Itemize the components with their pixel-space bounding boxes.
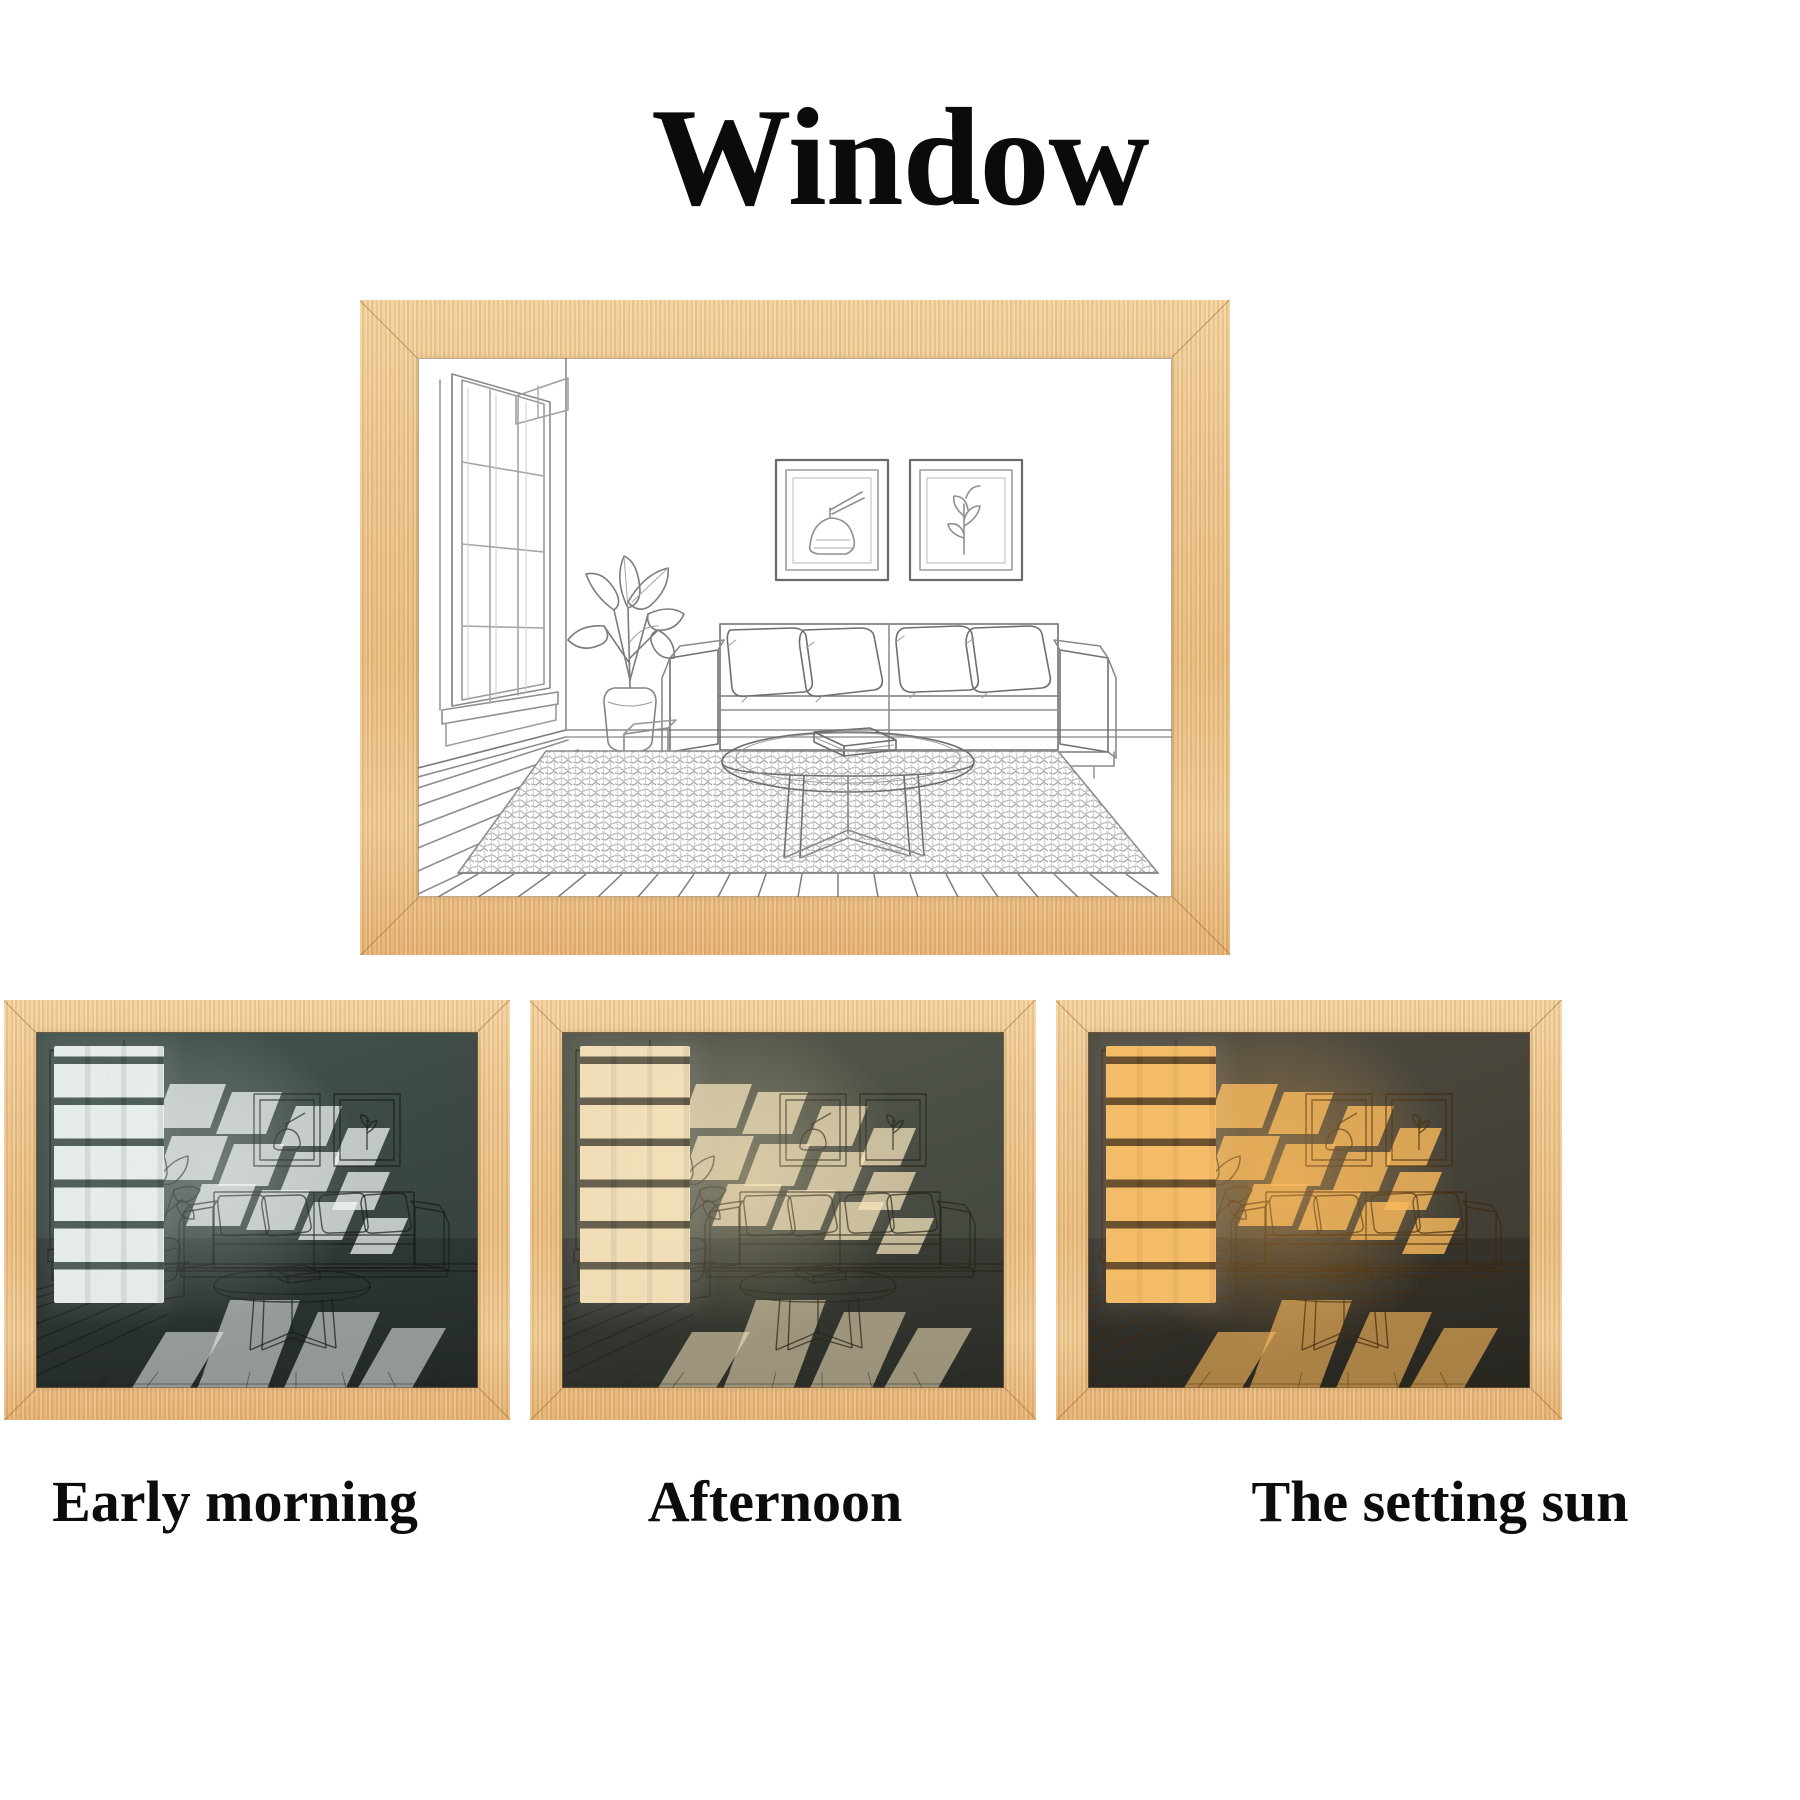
- variant-artwork-early-morning: [36, 1032, 478, 1388]
- line-art-scene: [418, 358, 1172, 897]
- caption-afternoon: Afternoon: [540, 1468, 1010, 1535]
- page-title: Window: [0, 88, 1800, 228]
- hero-artwork: [418, 358, 1172, 897]
- variant-frame-afternoon[interactable]: [530, 1000, 1036, 1420]
- caption-early-morning: Early morning: [0, 1468, 470, 1535]
- main-framed-lightbox[interactable]: [360, 300, 1230, 955]
- light-glow: [1132, 1032, 1521, 1388]
- variant-frame-setting-sun[interactable]: [1056, 1000, 1562, 1420]
- product-image: Window: [0, 0, 1800, 1800]
- variant-artwork-afternoon: [562, 1032, 1004, 1388]
- lit-scene-afternoon: [562, 1032, 1004, 1388]
- variant-artwork-setting-sun: [1088, 1032, 1530, 1388]
- variant-frame-early-morning[interactable]: [4, 1000, 510, 1420]
- light-glow: [80, 1032, 469, 1388]
- light-glow: [606, 1032, 995, 1388]
- caption-setting-sun: The setting sun: [1090, 1468, 1790, 1535]
- lit-scene-early-morning: [36, 1032, 478, 1388]
- lit-scene-setting-sun: [1088, 1032, 1530, 1388]
